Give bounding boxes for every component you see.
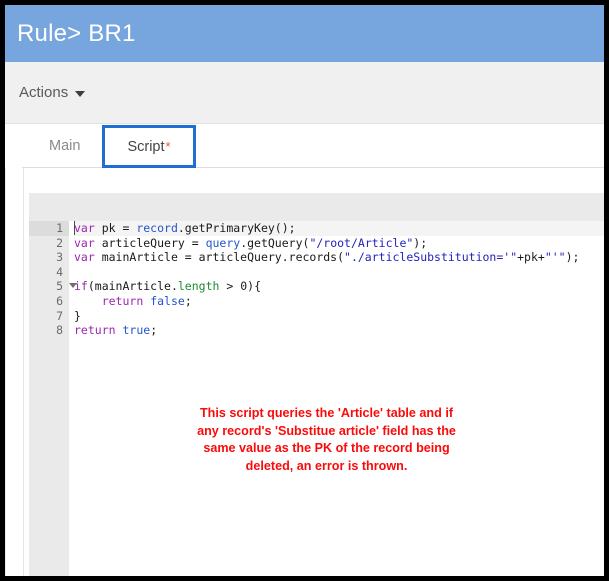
annotation-line: deleted, an error is thrown.	[134, 458, 519, 476]
code-token: "./articleSubstitution='"	[344, 250, 517, 264]
gutter-line-number[interactable]: 4	[29, 265, 69, 280]
editor-toolbar	[29, 193, 604, 221]
text-caret	[74, 221, 75, 235]
annotation-line: This script queries the 'Article' table …	[134, 405, 519, 423]
rule-editor-window: Rule> BR1 Actions Main Script* 12345678 …	[5, 5, 604, 576]
gutter-line-number[interactable]: 2	[29, 236, 69, 251]
code-token: ){	[247, 279, 261, 293]
gutter-line-number[interactable]: 6	[29, 294, 69, 309]
code-token: mainArticle = articleQuery.records(	[95, 250, 344, 264]
code-token: var	[74, 236, 95, 250]
code-line[interactable]	[74, 265, 604, 280]
code-pane[interactable]: var pk = record.getPrimaryKey();var arti…	[69, 221, 604, 576]
gutter-line-number[interactable]: 5	[29, 279, 69, 294]
code-token: .getPrimaryKey();	[178, 221, 296, 235]
annotation-line: any record's 'Substitue article' field h…	[134, 423, 519, 441]
chevron-down-icon	[75, 91, 85, 97]
code-token: true	[122, 323, 150, 337]
code-line[interactable]: var articleQuery = query.getQuery("/root…	[74, 236, 604, 251]
gutter-line-number[interactable]: 1	[29, 221, 69, 236]
code-token: ;	[150, 323, 157, 337]
content-inner: 12345678 var pk = record.getPrimaryKey()…	[23, 168, 604, 576]
page-header: Rule> BR1	[5, 5, 604, 62]
code-line[interactable]: var mainArticle = articleQuery.records("…	[74, 250, 604, 265]
code-token: (mainArticle.	[88, 279, 178, 293]
tab-script-label: Script	[127, 139, 164, 155]
tab-main[interactable]: Main	[27, 124, 102, 168]
code-token: return	[74, 323, 116, 337]
code-token: "/root/Article"	[309, 236, 413, 250]
gutter-line-number[interactable]: 8	[29, 323, 69, 338]
annotation-line: same value as the PK of the record being	[134, 440, 519, 458]
code-token: if	[74, 279, 88, 293]
code-token: }	[74, 309, 81, 323]
code-token: length	[178, 279, 220, 293]
line-number-gutter: 12345678	[29, 221, 69, 576]
script-content-area: 12345678 var pk = record.getPrimaryKey()…	[5, 168, 604, 576]
tab-strip: Main Script*	[5, 124, 604, 168]
page-title: Rule> BR1	[17, 20, 136, 48]
code-line[interactable]: var pk = record.getPrimaryKey();	[74, 221, 604, 236]
tab-modified-marker: *	[166, 140, 171, 153]
actions-toolbar: Actions	[5, 62, 604, 124]
code-token: );	[566, 250, 580, 264]
actions-menu-label: Actions	[19, 84, 68, 101]
code-token: >	[219, 279, 240, 293]
code-line[interactable]: }	[74, 309, 604, 324]
annotation-callout: This script queries the 'Article' table …	[134, 405, 519, 475]
code-line[interactable]: if(mainArticle.length > 0){	[74, 279, 604, 294]
code-token: var	[74, 250, 95, 264]
code-token: .getQuery(	[240, 236, 309, 250]
code-token: ;	[185, 294, 192, 308]
code-editor[interactable]: 12345678 var pk = record.getPrimaryKey()…	[29, 221, 604, 576]
code-line[interactable]: return true;	[74, 323, 604, 338]
tab-script[interactable]: Script*	[102, 125, 195, 168]
code-token: +pk+	[517, 250, 545, 264]
code-token: var	[74, 221, 95, 235]
code-token: return	[102, 294, 144, 308]
code-token: );	[413, 236, 427, 250]
gutter-line-number[interactable]: 3	[29, 250, 69, 265]
code-line[interactable]: return false;	[74, 294, 604, 309]
actions-menu-button[interactable]: Actions	[19, 84, 85, 101]
code-token: articleQuery =	[95, 236, 206, 250]
tab-main-label: Main	[49, 138, 80, 154]
code-token: false	[150, 294, 185, 308]
code-token: "'"	[545, 250, 566, 264]
gutter-line-number[interactable]: 7	[29, 309, 69, 324]
code-token	[74, 294, 102, 308]
code-token: pk =	[95, 221, 137, 235]
code-token: query	[206, 236, 241, 250]
code-token: record	[136, 221, 178, 235]
